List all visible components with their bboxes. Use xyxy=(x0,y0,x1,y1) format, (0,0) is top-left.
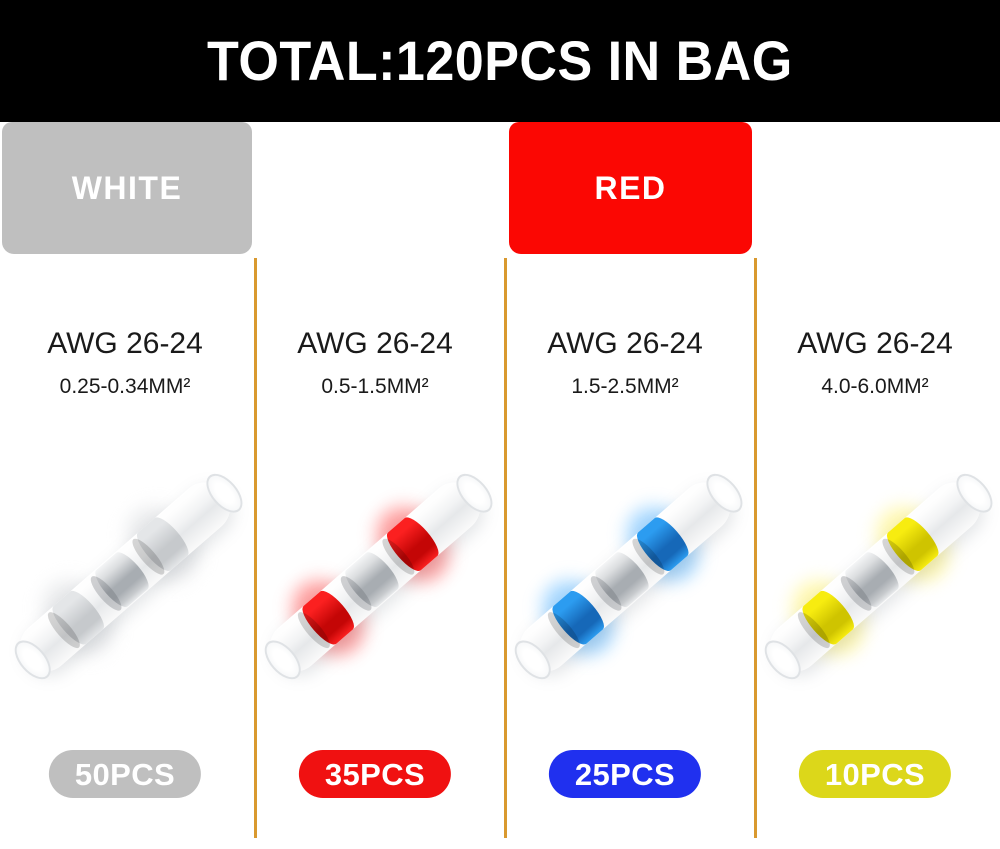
product-column-white: WHITE AWG 26-24 0.25-0.34MM² 50PCS xyxy=(0,122,250,849)
quantity-label: 50PCS xyxy=(75,759,175,790)
connector-image-blue xyxy=(500,417,750,737)
page-title: TOTAL:120PCS IN BAG xyxy=(207,33,793,89)
spec-awg-white: AWG 26-24 xyxy=(0,329,250,359)
connector-body xyxy=(0,463,251,691)
quantity-label: 35PCS xyxy=(325,759,425,790)
quantity-badge-white: 50PCS xyxy=(49,750,201,798)
quantity-label: 10PCS xyxy=(825,759,925,790)
connector-body xyxy=(249,463,501,691)
product-column-red: RED AWG 26-24 0.5-1.5MM² 35PCS xyxy=(250,122,500,849)
quantity-label: 25PCS xyxy=(575,759,675,790)
connector-image-yellow xyxy=(750,417,1000,737)
quantity-badge-yellow: 10PCS xyxy=(799,750,951,798)
product-columns: WHITE AWG 26-24 0.25-0.34MM² 50PCS xyxy=(0,122,1000,849)
connector-image-red xyxy=(250,417,500,737)
spec-awg-blue: AWG 26-24 xyxy=(500,329,750,359)
spec-mm-yellow: 4.0-6.0MM² xyxy=(750,376,1000,397)
product-infographic: TOTAL:120PCS IN BAG WHITE AWG 26-24 0.25… xyxy=(0,0,1000,849)
product-column-yellow: YELLOW AWG 26-24 4.0-6.0MM² 10PCS xyxy=(750,122,1000,849)
spec-mm-red: 0.5-1.5MM² xyxy=(250,376,500,397)
column-divider xyxy=(504,258,507,838)
quantity-badge-blue: 25PCS xyxy=(549,750,701,798)
spec-awg-red: AWG 26-24 xyxy=(250,329,500,359)
spec-mm-white: 0.25-0.34MM² xyxy=(0,376,250,397)
connector-image-white xyxy=(0,417,250,737)
column-divider xyxy=(754,258,757,838)
column-divider xyxy=(254,258,257,838)
color-header-white: WHITE xyxy=(2,122,252,254)
title-banner: TOTAL:120PCS IN BAG xyxy=(0,0,1000,122)
connector-body xyxy=(749,463,1000,691)
quantity-badge-red: 35PCS xyxy=(299,750,451,798)
connector-body xyxy=(499,463,751,691)
color-header-label: WHITE xyxy=(72,172,183,204)
spec-awg-yellow: AWG 26-24 xyxy=(750,329,1000,359)
spec-mm-blue: 1.5-2.5MM² xyxy=(500,376,750,397)
product-column-blue: BLUE AWG 26-24 1.5-2.5MM² 25PCS xyxy=(500,122,750,849)
